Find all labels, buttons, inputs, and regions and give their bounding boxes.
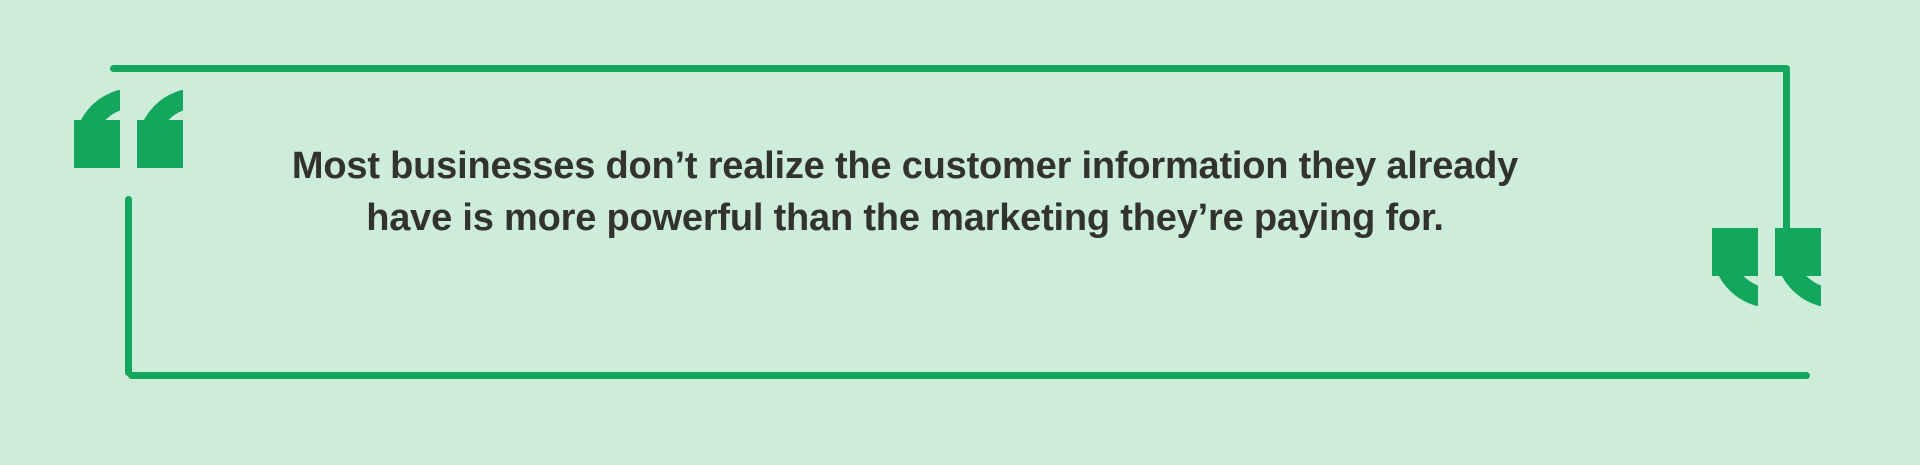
- pull-quote-card: Most businesses don’t realize the custom…: [0, 0, 1920, 465]
- frame-left-rule: [125, 196, 132, 376]
- close-quote-tick-2-tail: [1775, 246, 1821, 306]
- close-quote-tick-2: [1775, 228, 1821, 306]
- close-quote-tick-1-tail: [1712, 246, 1758, 306]
- frame-bottom-rule: [128, 372, 1810, 379]
- quote-line-1: Most businesses don’t realize the custom…: [200, 140, 1610, 192]
- open-quote-tick-2-tail: [137, 90, 183, 150]
- open-quote-tick-2: [137, 90, 183, 168]
- close-quote-icon: [1712, 228, 1821, 306]
- close-quote-tick-1: [1712, 228, 1758, 306]
- open-quote-tick-1-tail: [74, 90, 120, 150]
- quote-text: Most businesses don’t realize the custom…: [200, 140, 1610, 244]
- frame-top-rule: [110, 65, 1790, 72]
- quote-line-2: have is more powerful than the marketing…: [200, 192, 1610, 244]
- open-quote-icon: [74, 90, 183, 168]
- open-quote-tick-1: [74, 90, 120, 168]
